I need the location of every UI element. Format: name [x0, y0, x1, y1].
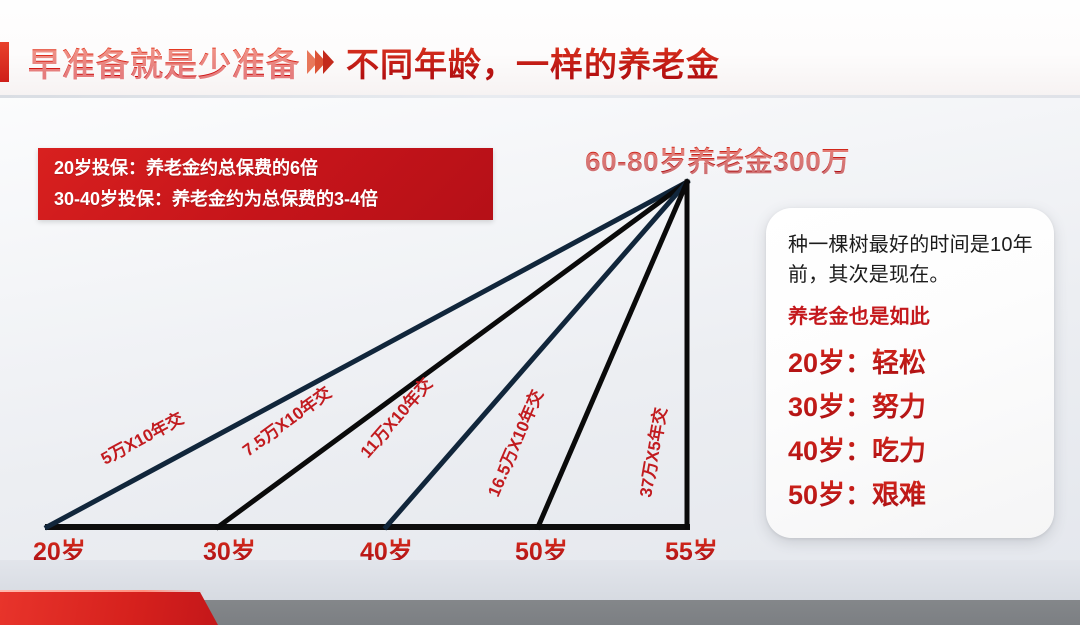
chart-line-series-1 — [218, 182, 687, 527]
page-title: 早准备就是少准备 不同年龄，一样的养老金 — [28, 38, 720, 86]
title-segment-secondary: 不同年龄，一样的养老金 — [346, 38, 720, 86]
card-subtitle: 养老金也是如此 — [788, 300, 1034, 329]
card-age-list: 20岁：轻松 30岁：努力 40岁：吃力 50岁：艰难 — [788, 341, 1034, 517]
triple-chevron-right-icon — [310, 50, 334, 74]
fan-chart: 5万X10年交 7.5万X10年交 11万X10年交 16.5万X10年交 37… — [0, 100, 760, 560]
list-item: 50岁：艰难 — [788, 473, 1034, 517]
list-item: 20岁：轻松 — [788, 341, 1034, 385]
chart-line-series-0 — [47, 182, 687, 527]
slide-canvas: 早准备就是少准备 不同年龄，一样的养老金 20岁投保：养老金约总保费的6倍 30… — [0, 0, 1080, 625]
header-accent-bar — [0, 42, 9, 82]
info-card: 种一棵树最好的时间是10年前，其次是现在。 养老金也是如此 20岁：轻松 30岁… — [766, 208, 1054, 538]
title-segment-primary: 早准备就是少准备 — [28, 38, 300, 86]
card-intro-text: 种一棵树最好的时间是10年前，其次是现在。 — [788, 230, 1034, 290]
header-divider — [0, 95, 1080, 98]
footer-red-accent — [0, 592, 218, 625]
list-item: 30岁：努力 — [788, 385, 1034, 429]
chart-series-label-4: 37万X5年交 — [635, 406, 670, 499]
list-item: 40岁：吃力 — [788, 429, 1034, 473]
